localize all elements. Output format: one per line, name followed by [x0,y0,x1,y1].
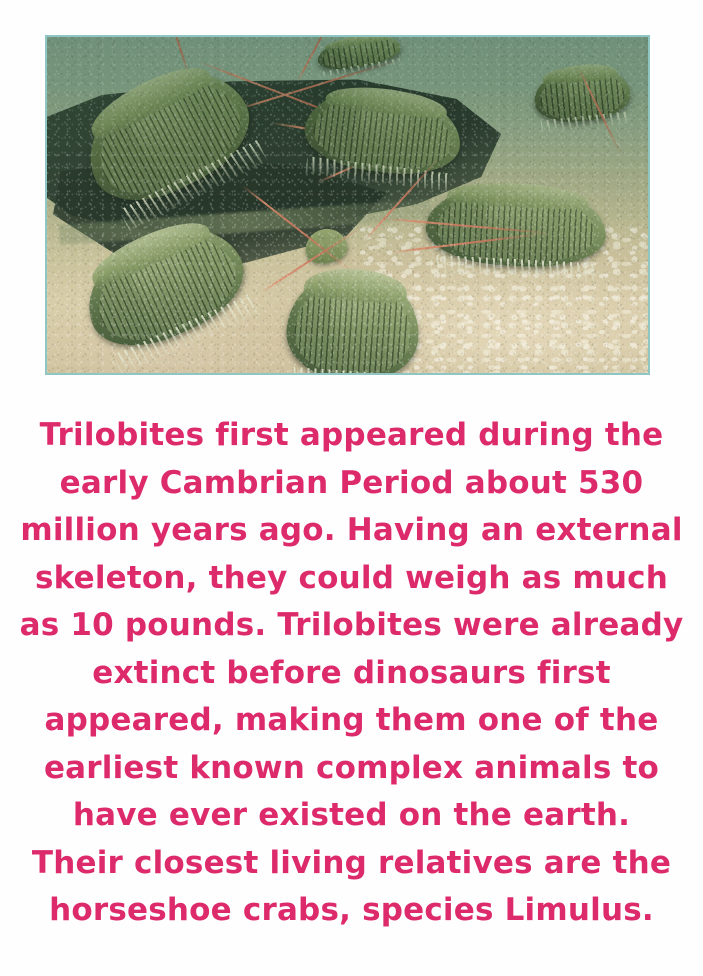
info-card-page: Trilobites first appeared during the ear… [0,0,703,976]
caption-line: earliest known complex animals to [18,745,685,793]
caption-line: extinct before dinosaurs first [18,650,685,698]
caption-line: as 10 pounds. Trilobites were already [18,602,685,650]
photo-canvas [47,37,648,373]
caption-line: million years ago. Having an external [18,507,685,555]
caption-line: early Cambrian Period about 530 [18,460,685,508]
caption-line: skeleton, they could weigh as much [18,555,685,603]
caption-line: horseshoe crabs, species Limulus. [18,887,685,935]
caption-line: Trilobites first appeared during the [18,412,685,460]
caption-line: Their closest living relatives are the [18,840,685,888]
water-haze-overlay [47,37,648,373]
caption-line: have ever existed on the earth. [18,792,685,840]
caption-text-block: Trilobites first appeared during the ear… [0,412,703,935]
caption-line: appeared, making them one of the [18,697,685,745]
trilobite-photograph [45,35,650,375]
